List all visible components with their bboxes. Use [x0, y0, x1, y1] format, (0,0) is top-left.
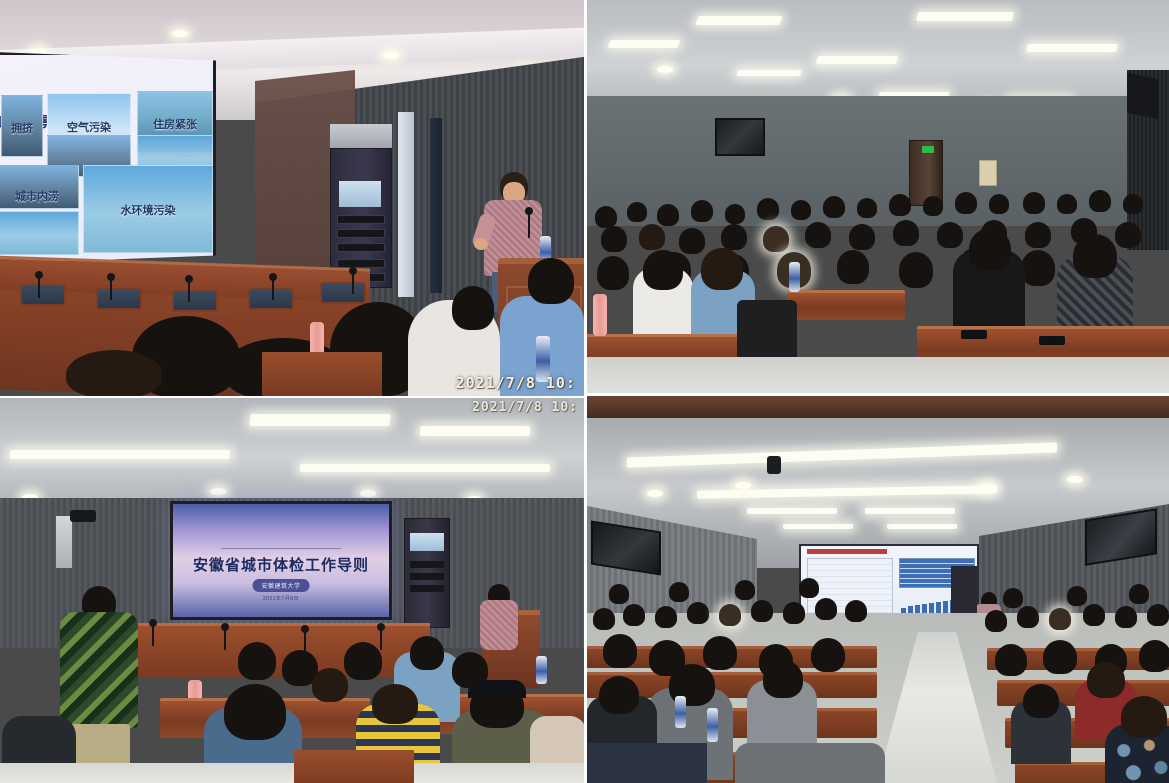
slide-date: 2021年7月8日	[173, 595, 389, 602]
foreground-desk	[294, 750, 414, 783]
exit-sign-icon	[922, 146, 934, 153]
standing-person-shirt	[60, 612, 138, 728]
microphone-icon	[272, 278, 274, 300]
water-bottle	[536, 656, 547, 684]
microphone-icon	[38, 276, 40, 298]
chair-back	[20, 284, 66, 306]
microphone-icon	[380, 628, 382, 650]
chair-back	[96, 288, 142, 310]
ceiling-light-icon	[420, 426, 531, 436]
ceiling-light-icon	[735, 482, 751, 489]
ceiling-light-icon	[816, 56, 899, 64]
audience-head	[1087, 662, 1125, 698]
slide-tile-caption: 空气污染	[48, 119, 130, 135]
foreground-person	[587, 743, 707, 783]
ceiling-light-icon	[887, 524, 957, 529]
audience-head	[995, 644, 1027, 676]
ceiling-light-icon	[736, 70, 802, 76]
ceiling-light-icon	[1026, 44, 1118, 52]
audience-head	[1043, 640, 1077, 674]
wall-pillar	[398, 112, 414, 297]
ceiling-light-icon	[249, 414, 390, 426]
audience-head	[603, 634, 637, 668]
audience-head	[1139, 640, 1169, 672]
audience-head	[224, 684, 286, 740]
microphone-icon	[188, 280, 190, 302]
speaker-torso	[480, 600, 518, 650]
microphone-icon	[110, 278, 112, 300]
floor	[0, 763, 584, 783]
ceiling-light-icon	[1067, 476, 1083, 483]
scene-rear-view	[587, 396, 1169, 783]
foreground-person	[735, 743, 885, 783]
audience-desk	[787, 290, 905, 320]
equipment-rack-top	[330, 124, 392, 150]
audience-head	[969, 228, 1011, 270]
stage-desk-row	[130, 623, 430, 678]
audience-right-far	[983, 586, 1169, 652]
rack-monitor	[410, 533, 444, 551]
photo-top-right[interactable]	[587, 0, 1169, 393]
microphone-icon	[224, 628, 226, 650]
water-bottle	[707, 708, 718, 742]
ceiling-light-icon	[210, 488, 226, 495]
audience-head	[703, 636, 737, 670]
water-bottle	[789, 262, 800, 292]
microphone-icon	[304, 630, 306, 652]
ceiling-light-icon	[607, 40, 680, 48]
slide-tile: 城市内涝	[0, 165, 79, 209]
ceiling-light-icon	[172, 30, 188, 37]
ceiling-light-icon	[10, 450, 230, 459]
slide-subtitle-badge: 安徽建筑大学	[252, 579, 309, 592]
ceiling-light-icon	[383, 52, 399, 59]
audience-head	[1023, 684, 1059, 718]
audience-head	[344, 642, 382, 680]
slide-title-bar	[807, 549, 887, 554]
chair-back	[248, 288, 294, 310]
baseball-cap-icon	[468, 680, 526, 698]
microphone-icon	[352, 272, 354, 294]
audience-head	[66, 350, 162, 396]
slide-tile: 水环境污染	[83, 165, 213, 253]
photo-bottom-left[interactable]: 安徽省城市体检工作导则 安徽建筑大学 2021年7月8日	[0, 398, 584, 783]
ceiling-light-icon	[865, 508, 955, 514]
smartphone	[961, 330, 987, 339]
water-bottle	[675, 696, 686, 728]
projector	[70, 510, 96, 522]
slide-tile: 拥挤	[1, 95, 43, 157]
chair-back	[320, 282, 366, 304]
audience-head	[410, 636, 444, 670]
projection-screen: 工作背景 拥挤 空气污染 住房紧张 城市内涝 水环境污染	[0, 52, 216, 264]
photo-collage: 工作背景 拥挤 空气污染 住房紧张 城市内涝 水环境污染	[0, 0, 1169, 783]
slide-tile-caption: 拥挤	[2, 120, 42, 136]
ceiling-light-icon	[979, 484, 995, 491]
audience-head	[312, 668, 348, 702]
wall-monitor	[715, 118, 765, 156]
ceiling-projector-icon	[767, 456, 781, 474]
audience-head	[599, 676, 639, 714]
photo-timestamp: 2021/7/8 10:	[456, 374, 576, 392]
rack-monitor	[339, 181, 381, 207]
slide-tile-caption: 城市内涝	[0, 188, 78, 204]
ceiling-light-icon	[360, 490, 376, 497]
photo-top-band	[587, 396, 1169, 420]
scene-audience	[587, 0, 1169, 393]
wall-speaker	[1127, 73, 1159, 120]
wall-pillar-dark	[430, 118, 442, 293]
ceiling-light-icon	[300, 464, 550, 472]
ceiling-light-icon	[916, 12, 1014, 21]
floor	[587, 357, 1169, 393]
slide-tile-image	[0, 211, 79, 255]
slide-title: 安徽省城市体检工作导则	[173, 554, 389, 575]
ceiling-light-icon	[657, 66, 673, 73]
slide-divider	[221, 548, 341, 549]
audience-head	[1121, 696, 1167, 738]
scene-title-slide: 安徽省城市体检工作导则 安徽建筑大学 2021年7月8日	[0, 398, 584, 783]
thermos-flask	[593, 294, 607, 336]
smartphone	[1039, 336, 1065, 345]
ceiling-light-icon	[695, 16, 782, 25]
microphone-icon	[152, 624, 154, 646]
audience-head	[811, 638, 845, 672]
foreground-desk	[262, 352, 382, 396]
photo-timestamp: 2021/7/8 10:	[472, 400, 578, 415]
chair-back	[172, 290, 218, 312]
audience-head	[643, 250, 683, 290]
slide-tile-caption: 水环境污染	[84, 202, 212, 218]
ceiling-light-icon	[647, 490, 663, 497]
scene-lecture-speaker: 工作背景 拥挤 空气污染 住房紧张 城市内涝 水环境污染	[0, 0, 584, 396]
led-screen: 安徽省城市体检工作导则 安徽建筑大学 2021年7月8日	[170, 501, 392, 620]
equipment-rack	[404, 518, 450, 628]
ceiling-light-icon	[747, 508, 837, 514]
audience-head	[701, 248, 743, 290]
slide-tile-caption: 住房紧张	[138, 116, 212, 132]
audience-head	[372, 684, 418, 724]
shirt-pattern	[1111, 732, 1169, 783]
photo-top-left[interactable]: 工作背景 拥挤 空气污染 住房紧张 城市内涝 水环境污染	[0, 0, 584, 396]
audience-head	[452, 286, 494, 330]
ceiling-light-icon	[783, 524, 853, 529]
audience-head	[238, 642, 276, 680]
audience-head	[528, 258, 574, 304]
audience-head	[1073, 234, 1117, 278]
wall-speaker	[56, 516, 72, 568]
audience-head	[763, 660, 803, 698]
podium-microphone-icon	[528, 212, 530, 238]
photo-bottom-right[interactable]	[587, 396, 1169, 783]
